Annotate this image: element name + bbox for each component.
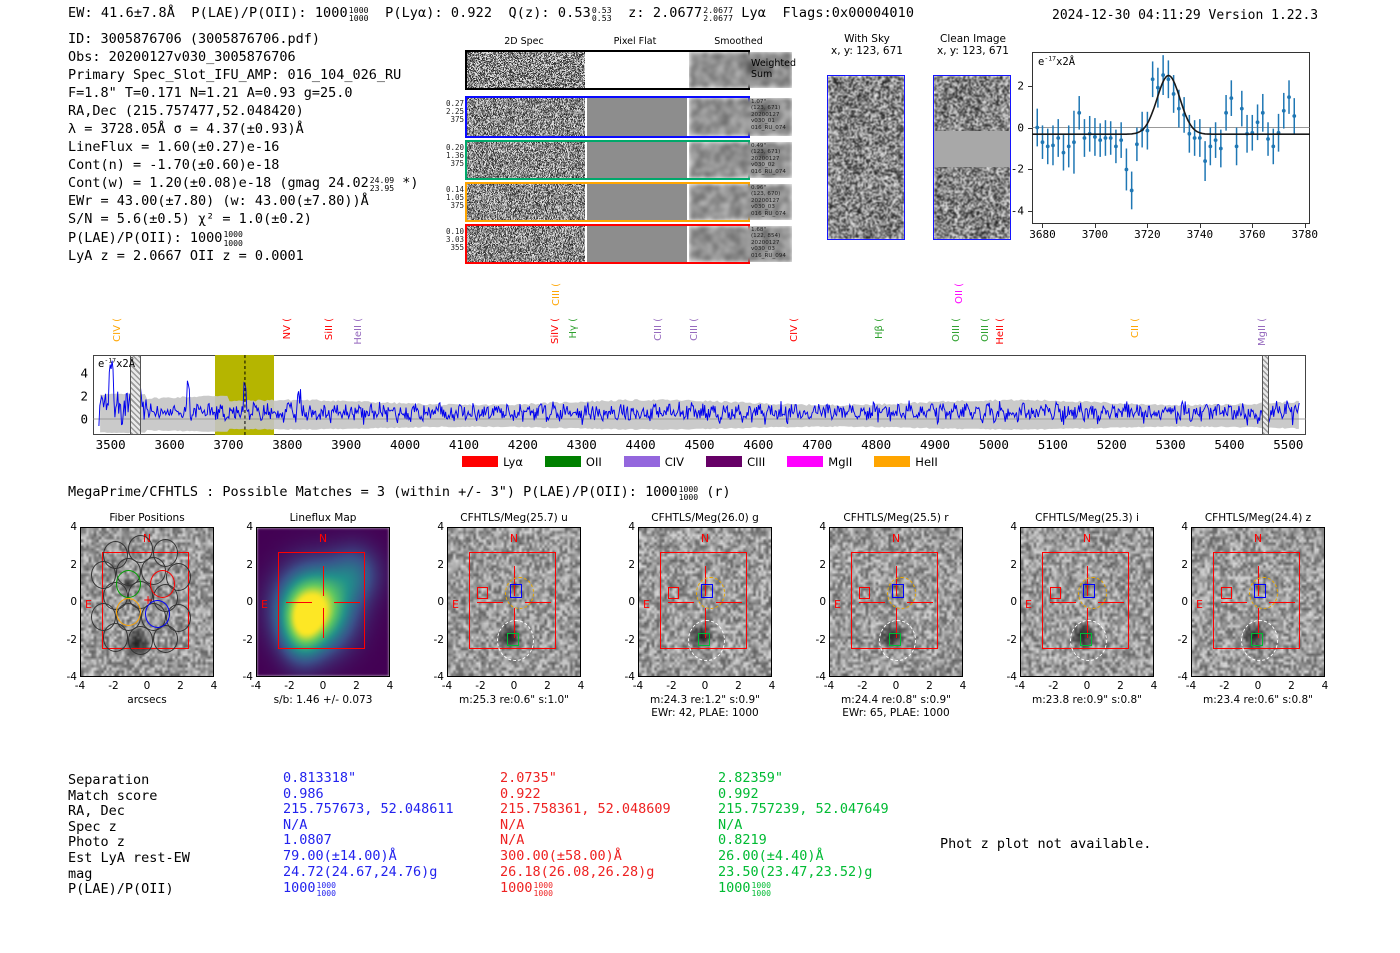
panel-caption: arcsecs xyxy=(127,694,166,707)
match-table-column-1: 0.813318"0.986215.757673, 52.048611N/A1.… xyxy=(283,771,454,897)
compass-east: E xyxy=(85,598,92,611)
fiber-circle xyxy=(153,625,178,653)
weighted-sum-label: Weighted xyxy=(751,58,796,69)
imaging-panel-1[interactable]: Fiber PositionsNE+-4-2024420-2-4arcsecs xyxy=(80,527,214,677)
emission-line-label: CIII ( xyxy=(551,283,562,306)
fraction: 2.06772.0677 xyxy=(703,6,733,22)
panel-y-tick: 0 xyxy=(1010,596,1017,608)
metadata-line: F=1.8" T=0.171 N=1.21 A=0.93 g=25.0 xyxy=(68,84,419,102)
panel-x-tick: 0 xyxy=(511,680,518,692)
emission-line-label: HeII ( xyxy=(995,318,1006,345)
match-table-cell: 26.00(±4.40)Å xyxy=(718,849,889,865)
panel-x-tick: 4 xyxy=(1151,680,1158,692)
legend-item: CIV xyxy=(624,455,684,469)
panel-title: CFHTLS/Meg(26.0) g xyxy=(651,512,759,524)
match-table-cell: N/A xyxy=(283,818,454,834)
legend-swatch xyxy=(874,456,910,467)
panel-x-tick: 0 xyxy=(1255,680,1262,692)
metadata-line: RA,Dec (215.757477,52.048420) xyxy=(68,102,419,120)
match-marker-red xyxy=(668,587,679,599)
panel-title: Fiber Positions xyxy=(109,512,184,524)
spectrum-legend: LyαOIICIVCIIIMgIIHeII xyxy=(0,455,1400,469)
legend-label: OII xyxy=(586,455,602,469)
panel-caption-line: arcsecs xyxy=(127,694,166,707)
spec2d-cell xyxy=(587,226,687,262)
spectrum-x-tick-label: 4300 xyxy=(567,437,597,452)
panel-y-tick: -2 xyxy=(67,634,77,646)
legend-label: MgII xyxy=(828,455,852,469)
panel-y-tick: 4 xyxy=(70,521,77,533)
legend-item: MgII xyxy=(787,455,852,469)
panel-y-tick: 2 xyxy=(246,559,253,571)
panel-x-tick: 2 xyxy=(1117,680,1124,692)
metadata-line: EWr = 43.00(±7.80) (w: 43.00(±7.80))Å xyxy=(68,192,419,210)
match-table-row-label: Est LyA rest-EW xyxy=(68,851,283,867)
spec2d-column-title: Smoothed xyxy=(687,36,790,47)
spectrum-x-tick-label: 3600 xyxy=(154,437,184,452)
emission-line-label: OIII ( xyxy=(951,318,962,342)
legend-swatch xyxy=(624,456,660,467)
compass-east: E xyxy=(1196,598,1203,611)
match-table-row-label: RA, Dec xyxy=(68,804,283,820)
emission-line-label: Hβ ( xyxy=(874,318,885,339)
panel-y-tick: 0 xyxy=(246,596,253,608)
panel-y-tick: -4 xyxy=(434,671,444,683)
spec2d-cell xyxy=(467,52,585,88)
panel-image[interactable]: NE+ xyxy=(80,527,214,677)
match-table-cell: N/A xyxy=(500,818,671,834)
imaging-panel-7[interactable]: CFHTLS/Meg(24.4) zNE-4-2024420-2-4m:23.4… xyxy=(1191,527,1325,677)
match-table-labels: SeparationMatch scoreRA, DecSpec zPhoto … xyxy=(68,773,283,898)
spec2d-montage: 2D SpecPixel FlatSmoothedWeightedSum0.27… xyxy=(425,36,755,256)
panel-y-tick: 2 xyxy=(70,559,77,571)
match-table-cell: 215.757239, 52.047649 xyxy=(718,802,889,818)
x-tick-label: 3760 xyxy=(1239,228,1266,241)
weighted-sum-label: Sum xyxy=(751,69,796,80)
spectrum-x-tick-label: 3800 xyxy=(272,437,302,452)
match-table-row-label: mag xyxy=(68,867,283,883)
fraction: 0.530.53 xyxy=(592,6,612,22)
panel-y-tick: 0 xyxy=(70,596,77,608)
match-table-cell: 215.757673, 52.048611 xyxy=(283,802,454,818)
panel-y-tick: 2 xyxy=(628,559,635,571)
x-tick-label: 3740 xyxy=(1187,228,1214,241)
y-tick-label: -4 xyxy=(1011,205,1028,218)
spec2d-fiber-row: 0.201.363750.49"(123, 671)20200127v030_0… xyxy=(465,140,750,180)
panel-x-tick: 4 xyxy=(211,680,218,692)
metadata-line: LyA z = 2.0667 OII z = 0.0001 xyxy=(68,247,419,265)
zoom-plot-canvas xyxy=(1032,52,1310,224)
panel-x-tick: -2 xyxy=(1048,680,1058,692)
crosshair-vertical xyxy=(323,608,324,638)
panel-image[interactable]: NE xyxy=(1020,527,1154,677)
emission-line-label: Hγ ( xyxy=(568,318,579,339)
x-tick-label: 3720 xyxy=(1134,228,1161,241)
panel-y-tick: 2 xyxy=(1181,559,1188,571)
compass-east: E xyxy=(643,598,650,611)
spec2d-column-title: 2D Spec xyxy=(465,36,583,47)
panel-image[interactable]: NE xyxy=(638,527,772,677)
source-ellipse xyxy=(688,620,725,661)
cutout-coords: x, y: 123, 671 xyxy=(919,45,1027,57)
panel-y-tick: 2 xyxy=(819,559,826,571)
panel-title: CFHTLS/Meg(25.5) r xyxy=(843,512,948,524)
match-marker-red xyxy=(859,587,870,599)
compass-north: N xyxy=(1254,532,1262,545)
cutout-image xyxy=(827,75,905,240)
full-spectrum-plot: e-17x2Å xyxy=(93,355,1306,435)
source-ellipse xyxy=(1241,620,1278,661)
compass-east: E xyxy=(261,598,268,611)
panel-image[interactable]: NE xyxy=(1191,527,1325,677)
x-tick-label: 3680 xyxy=(1029,228,1056,241)
match-table-row-label: Match score xyxy=(68,789,283,805)
panel-y-tick: -4 xyxy=(816,671,826,683)
panel-x-tick: 0 xyxy=(144,680,151,692)
compass-north: N xyxy=(892,532,900,545)
match-table-column-2: 2.0735"0.922215.758361, 52.048609N/AN/A3… xyxy=(500,771,671,897)
spectrum-x-tick-label: 4500 xyxy=(684,437,714,452)
emission-line-label: CII ( xyxy=(1130,318,1141,338)
emission-line-label: SiII ( xyxy=(324,318,335,340)
masked-wavelength-band xyxy=(1262,355,1270,435)
metadata-line: P(LAE)/P(OII): 100010001000 xyxy=(68,229,419,247)
legend-label: Lyα xyxy=(503,455,523,469)
spectrum-x-tick-label: 4200 xyxy=(508,437,538,452)
spectrum-x-tick-label: 4900 xyxy=(920,437,950,452)
spec2d-column-title: Pixel Flat xyxy=(585,36,685,47)
panel-title: Lineflux Map xyxy=(290,512,357,524)
emission-line-label: SiIV ( xyxy=(550,318,561,344)
imaging-panel-6[interactable]: CFHTLS/Meg(25.3) iNE-4-2024420-2-4m:23.8… xyxy=(1020,527,1154,677)
spectrum-x-tick-label: 3500 xyxy=(96,437,126,452)
metadata-line: LineFlux = 1.60(±0.27)e-16 xyxy=(68,138,419,156)
legend-label: CIV xyxy=(665,455,684,469)
panel-y-tick: -2 xyxy=(1178,634,1188,646)
x-tick-label: 3780 xyxy=(1292,228,1319,241)
spectrum-x-tick-label: 4000 xyxy=(390,437,420,452)
match-table-cell: 0.8219 xyxy=(718,833,889,849)
spectrum-x-tick-label: 4100 xyxy=(449,437,479,452)
spectrum-y-tick-label: 4 xyxy=(80,366,93,381)
spec2d-cell xyxy=(467,142,585,178)
match-table-cell: 0.813318" xyxy=(283,771,454,787)
legend-item: Lyα xyxy=(462,455,523,469)
cutout-image xyxy=(933,75,1011,240)
match-marker-blue xyxy=(701,584,713,597)
panel-x-tick: 4 xyxy=(387,680,394,692)
fraction: 10001000 xyxy=(349,6,369,22)
spectrum-y-tick-label: 2 xyxy=(80,389,93,404)
cutout-name: Clean Image xyxy=(919,33,1027,45)
panel-image[interactable]: NE xyxy=(447,527,581,677)
source-ellipse xyxy=(1070,620,1107,661)
panel-x-tick: 2 xyxy=(735,680,742,692)
spectrum-x-tick-label: 5200 xyxy=(1097,437,1127,452)
fiber-info-value: 016_RU_074 xyxy=(751,125,786,131)
compass-north: N xyxy=(319,532,327,545)
panel-y-tick: 0 xyxy=(628,596,635,608)
match-table-cell: 100010001000 xyxy=(718,880,889,897)
panel-title: CFHTLS/Meg(24.4) z xyxy=(1205,512,1311,524)
panel-y-tick: -2 xyxy=(434,634,444,646)
legend-label: HeII xyxy=(915,455,938,469)
panel-caption: m:23.4 re:0.6" s:0.8" xyxy=(1203,694,1313,707)
compass-north: N xyxy=(510,532,518,545)
metadata-line: S/N = 5.6(±0.5) χ² = 1.0(±0.2) xyxy=(68,210,419,228)
match-table-cell: 300.00(±58.00)Å xyxy=(500,849,671,865)
match-table-cell: 1.0807 xyxy=(283,833,454,849)
masked-band xyxy=(934,131,1010,167)
panel-y-tick: -2 xyxy=(243,634,253,646)
emission-line-label: OII ( xyxy=(954,283,965,304)
catalog-match-header: MegaPrime/CFHTLS : Possible Matches = 3 … xyxy=(68,484,731,500)
panel-y-tick: 2 xyxy=(437,559,444,571)
panel-x-tick: -2 xyxy=(666,680,676,692)
fraction: 10001000 xyxy=(752,881,772,897)
panel-y-tick: 4 xyxy=(1010,521,1017,533)
panel-x-tick: -2 xyxy=(108,680,118,692)
match-table-cell: 2.0735" xyxy=(500,771,671,787)
panel-x-tick: 2 xyxy=(926,680,933,692)
panel-y-tick: 0 xyxy=(437,596,444,608)
match-table-cell: N/A xyxy=(500,833,671,849)
cutout-title: Clean Imagex, y: 123, 671 xyxy=(919,33,1027,57)
panel-x-tick: -2 xyxy=(284,680,294,692)
panel-y-tick: -4 xyxy=(1007,671,1017,683)
panel-caption-line: m:24.3 re:1.2" s:0.9" xyxy=(650,694,760,707)
emission-line-label: NV ( xyxy=(282,318,293,339)
legend-item: OII xyxy=(545,455,602,469)
detection-metadata: ID: 3005876706 (3005876706.pdf)Obs: 2020… xyxy=(68,30,419,265)
imaging-panel-2[interactable]: Lineflux MapNE-4-2024420-2-4s/b: 1.46 +/… xyxy=(256,527,390,677)
fraction: 10001000 xyxy=(534,881,554,897)
match-table-cell: 23.50(23.47,23.52)g xyxy=(718,865,889,881)
panel-image[interactable]: NE xyxy=(829,527,963,677)
fiber-info-value: 016_RU_074 xyxy=(751,169,786,175)
panel-x-tick: 2 xyxy=(177,680,184,692)
fiber-circle xyxy=(103,623,128,651)
fiber-info-value: 016_RU_094 xyxy=(751,253,786,259)
match-marker-blue xyxy=(1254,584,1266,597)
panel-caption-line: s/b: 1.46 +/- 0.073 xyxy=(274,694,373,707)
spec2d-weighted-sum-row: WeightedSum xyxy=(465,50,750,90)
match-table-cell: 0.992 xyxy=(718,787,889,803)
panel-y-tick: 2 xyxy=(1010,559,1017,571)
emission-line-label: CIV ( xyxy=(789,318,800,342)
fiber-weight-value: 375 xyxy=(446,160,464,168)
panel-y-tick: 4 xyxy=(628,521,635,533)
panel-caption-line: m:23.4 re:0.6" s:0.8" xyxy=(1203,694,1313,707)
header-timestamp-version: 2024-12-30 04:11:29 Version 1.22.3 xyxy=(1052,8,1318,23)
spectrum-x-tick-label: 5100 xyxy=(1038,437,1068,452)
legend-item: HeII xyxy=(874,455,938,469)
panel-y-tick: -4 xyxy=(243,671,253,683)
panel-x-tick: 2 xyxy=(544,680,551,692)
match-table-cell: N/A xyxy=(718,818,889,834)
legend-swatch xyxy=(462,456,498,467)
crosshair-horizontal xyxy=(477,602,503,603)
spec2d-fiber-row: 0.141.053750.96"(123, 670)20200127v030_0… xyxy=(465,182,750,222)
imaging-panel-4[interactable]: CFHTLS/Meg(26.0) gNE-4-2024420-2-4m:24.3… xyxy=(638,527,772,677)
match-marker-blue xyxy=(892,584,904,597)
metadata-line: Primary Spec_Slot_IFU_AMP: 016_104_026_R… xyxy=(68,66,419,84)
spectrum-x-tick-label: 5500 xyxy=(1273,437,1303,452)
panel-x-tick: 4 xyxy=(1322,680,1329,692)
metadata-line: Obs: 20200127v030_3005876706 xyxy=(68,48,419,66)
legend-swatch xyxy=(706,456,742,467)
panel-x-tick: 4 xyxy=(578,680,585,692)
compass-north: N xyxy=(1083,532,1091,545)
match-marker-red xyxy=(477,587,488,599)
spec2d-fiber-row: 0.272.253751.07"(123, 671)20200127v030_0… xyxy=(465,96,750,138)
spectrum-x-tick-label: 4700 xyxy=(802,437,832,452)
panel-caption: m:24.3 re:1.2" s:0.9"EWr: 42, PLAE: 1000 xyxy=(650,694,760,720)
panel-y-tick: -2 xyxy=(625,634,635,646)
panel-x-tick: 2 xyxy=(353,680,360,692)
panel-title: CFHTLS/Meg(25.7) u xyxy=(460,512,567,524)
spec2d-cell xyxy=(587,98,687,136)
crosshair-horizontal xyxy=(859,602,885,603)
cutout-name: With Sky xyxy=(813,33,921,45)
imaging-panel-5[interactable]: CFHTLS/Meg(25.5) rNE-4-2024420-2-4m:24.4… xyxy=(829,527,963,677)
crosshair-horizontal xyxy=(334,602,360,603)
spectrum-x-tick-label: 4400 xyxy=(626,437,656,452)
panel-y-tick: 4 xyxy=(246,521,253,533)
spec2d-cell xyxy=(467,184,585,220)
crosshair-vertical xyxy=(323,566,324,596)
match-marker-red xyxy=(1221,587,1232,599)
fiber-circle xyxy=(128,626,153,654)
emission-line-label: OIII ( xyxy=(980,318,991,342)
spectrum-canvas xyxy=(93,355,1306,435)
imaging-panel-3[interactable]: CFHTLS/Meg(25.7) uNE-4-2024420-2-4m:25.3… xyxy=(447,527,581,677)
match-marker-blue xyxy=(510,584,522,597)
metadata-line: Cont(w) = 1.20(±0.08)e-18 (gmag 24.0224.… xyxy=(68,174,419,192)
panel-caption: s/b: 1.46 +/- 0.073 xyxy=(274,694,373,707)
metadata-line: λ = 3728.05Å σ = 4.37(±0.93)Å xyxy=(68,120,419,138)
spectrum-x-tick-label: 5400 xyxy=(1214,437,1244,452)
legend-label: CIII xyxy=(747,455,765,469)
panel-y-tick: -2 xyxy=(816,634,826,646)
compass-east: E xyxy=(452,598,459,611)
match-table-cell: 24.72(24.67,24.76)g xyxy=(283,865,454,881)
spectrum-unit: e-17x2Å xyxy=(98,358,135,370)
panel-x-tick: 0 xyxy=(1084,680,1091,692)
crosshair-horizontal xyxy=(1050,602,1076,603)
crosshair-horizontal xyxy=(668,602,694,603)
panel-x-tick: -2 xyxy=(857,680,867,692)
panel-caption: m:25.3 re:0.6" s:1.0" xyxy=(459,694,569,707)
match-table-row-label: Spec z xyxy=(68,820,283,836)
fiber-weight-value: 375 xyxy=(446,116,464,124)
match-table-row-label: Photo z xyxy=(68,835,283,851)
panel-y-tick: 0 xyxy=(819,596,826,608)
panel-x-tick: 0 xyxy=(320,680,327,692)
x-tick-label: 3700 xyxy=(1082,228,1109,241)
cutout-coords: x, y: 123, 671 xyxy=(813,45,921,57)
panel-y-tick: 4 xyxy=(437,521,444,533)
compass-east: E xyxy=(1025,598,1032,611)
panel-x-tick: -2 xyxy=(475,680,485,692)
emission-line-zoom-plot: e-17x2Å368037003720374037603780-4-202 xyxy=(1032,52,1310,224)
panel-y-tick: -4 xyxy=(1178,671,1188,683)
spec2d-cell xyxy=(587,184,687,220)
spectrum-x-tick-label: 3900 xyxy=(331,437,361,452)
panel-y-tick: 4 xyxy=(1181,521,1188,533)
emission-line-label: MgII ( xyxy=(1257,318,1268,346)
match-table-row-label: Separation xyxy=(68,773,283,789)
cutout-title: With Skyx, y: 123, 671 xyxy=(813,33,921,57)
aperture-box xyxy=(278,552,365,650)
spectrum-x-tick-label: 3700 xyxy=(213,437,243,452)
fraction: 10001000 xyxy=(223,230,243,246)
emission-line-label: CIII ( xyxy=(689,318,700,341)
target-marker: + xyxy=(143,593,153,607)
panel-y-tick: 4 xyxy=(819,521,826,533)
header-summary: EW: 41.6±7.8Å P(LAE)/P(OII): 10001000100… xyxy=(68,5,914,21)
panel-caption-line: m:23.8 re:0.9" s:0.8" xyxy=(1032,694,1142,707)
fraction: 10001000 xyxy=(679,485,699,501)
match-table-cell: 215.758361, 52.048609 xyxy=(500,802,671,818)
spectrum-x-tick-label: 4600 xyxy=(743,437,773,452)
match-table-column-3: 2.82359"0.992215.757239, 52.047649N/A0.8… xyxy=(718,771,889,897)
fraction: 24.0923.95 xyxy=(370,176,394,192)
panel-caption-line: m:24.4 re:0.8" s:0.9" xyxy=(841,694,951,707)
fiber-weight-value: 375 xyxy=(446,202,464,210)
crosshair-horizontal xyxy=(1221,602,1247,603)
panel-caption: m:24.4 re:0.8" s:0.9"EWr: 65, PLAE: 1000 xyxy=(841,694,951,720)
match-marker-blue xyxy=(1083,584,1095,597)
match-table-cell: 0.986 xyxy=(283,787,454,803)
source-ellipse xyxy=(497,620,534,661)
fraction: 10001000 xyxy=(317,881,337,897)
panel-caption-line: EWr: 42, PLAE: 1000 xyxy=(650,707,760,720)
spectrum-y-tick-label: 0 xyxy=(80,412,93,427)
crosshair-horizontal xyxy=(286,602,312,603)
emission-line-label: CIV ( xyxy=(112,318,123,342)
panel-x-tick: 0 xyxy=(893,680,900,692)
legend-item: CIII xyxy=(706,455,765,469)
y-tick-label: 2 xyxy=(1017,79,1028,92)
compass-east: E xyxy=(834,598,841,611)
compass-north: N xyxy=(701,532,709,545)
panel-caption-line: m:25.3 re:0.6" s:1.0" xyxy=(459,694,569,707)
match-table-row-label: P(LAE)/P(OII) xyxy=(68,882,283,898)
source-ellipse xyxy=(879,620,916,661)
panel-x-tick: 4 xyxy=(769,680,776,692)
match-marker-red xyxy=(1050,587,1061,599)
panel-x-tick: 0 xyxy=(702,680,709,692)
metadata-line: Cont(n) = -1.70(±0.60)e-18 xyxy=(68,156,419,174)
y-tick-label: 0 xyxy=(1017,121,1028,134)
spectrum-x-tick-label: 5000 xyxy=(979,437,1009,452)
fiber-info-value: 016_RU_074 xyxy=(751,211,786,217)
match-table-cell: 100010001000 xyxy=(283,880,454,897)
photz-note: Phot z plot not available. xyxy=(940,836,1151,852)
panel-caption: m:23.8 re:0.9" s:0.8" xyxy=(1032,694,1142,707)
spec2d-cell xyxy=(587,52,687,88)
metadata-line: ID: 3005876706 (3005876706.pdf) xyxy=(68,30,419,48)
panel-image[interactable]: NE xyxy=(256,527,390,677)
spec2d-fiber-row: 0.103.033551.68"(122, 854)20200127v030_0… xyxy=(465,224,750,264)
match-table-cell: 100010001000 xyxy=(500,880,671,897)
match-table-cell: 0.922 xyxy=(500,787,671,803)
panel-y-tick: 0 xyxy=(1181,596,1188,608)
panel-caption-line: EWr: 65, PLAE: 1000 xyxy=(841,707,951,720)
match-table-cell: 26.18(26.08,26.28)g xyxy=(500,865,671,881)
y-tick-label: -2 xyxy=(1011,163,1028,176)
